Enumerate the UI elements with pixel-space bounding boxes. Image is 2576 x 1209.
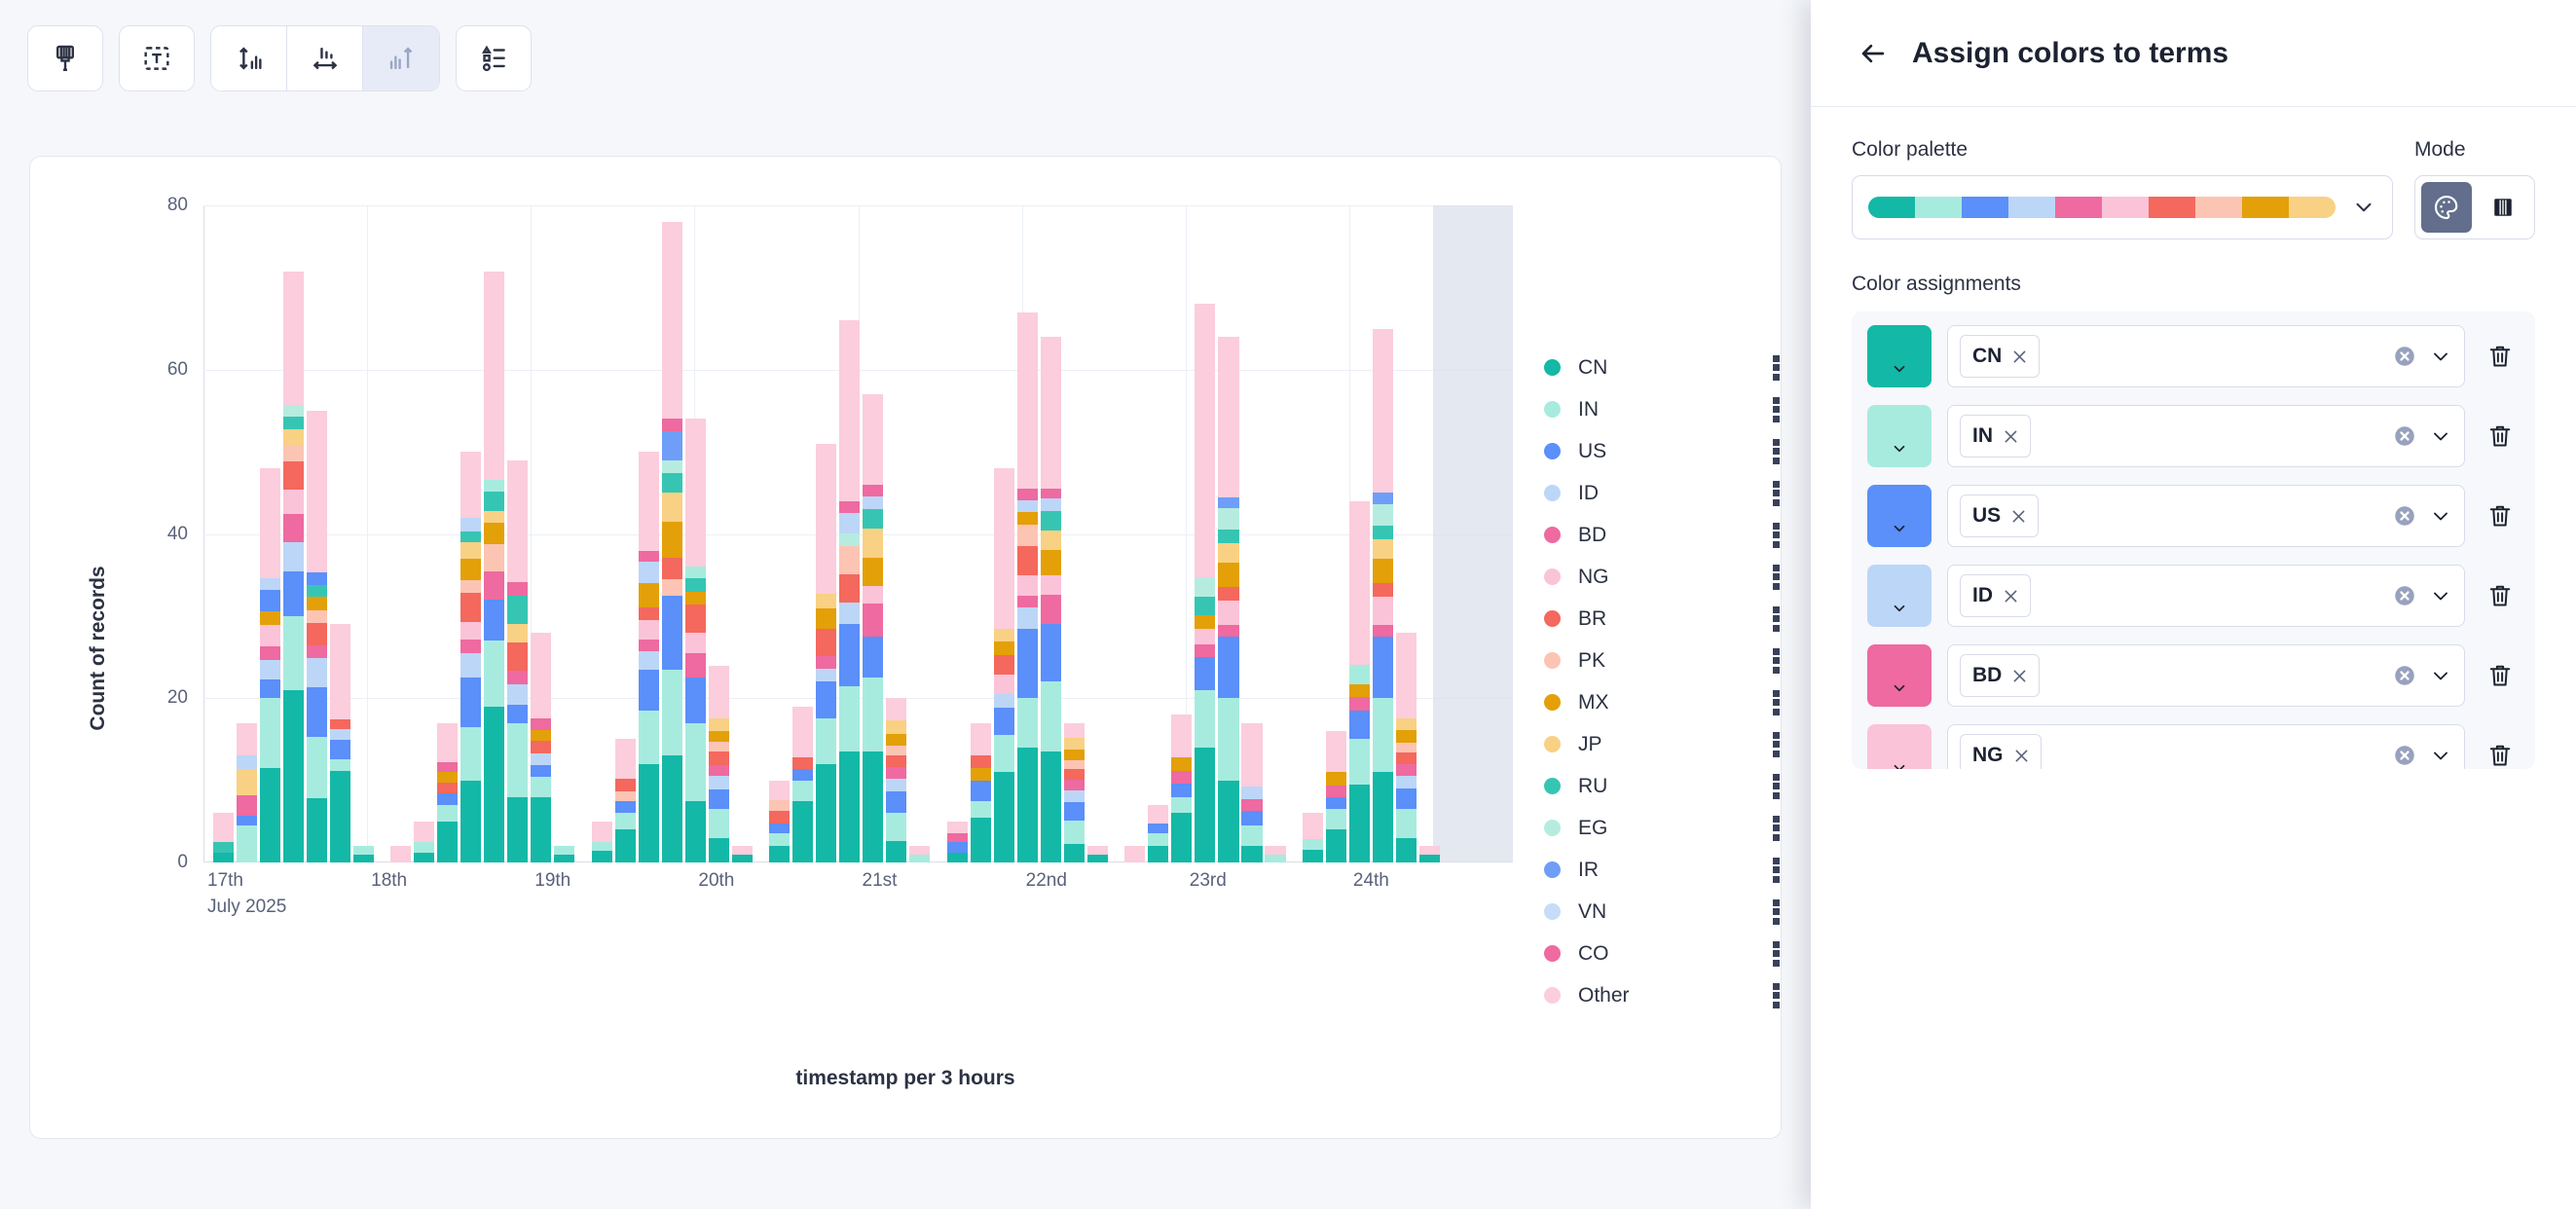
clear-circle-icon [2392, 743, 2417, 768]
legend-drag-handle[interactable] [1769, 439, 1783, 464]
bar-segment [909, 855, 930, 862]
legend-item-vn[interactable]: VN [1544, 891, 1783, 933]
legend-drag-handle[interactable] [1769, 816, 1783, 841]
bar-segment [307, 411, 327, 572]
legend-drag-handle[interactable] [1769, 565, 1783, 590]
clear-circle-icon [2392, 423, 2417, 449]
bar-segment [1396, 788, 1417, 809]
bar-segment [639, 670, 659, 711]
bar[interactable] [1396, 633, 1417, 862]
x-tick-label: 24th [1353, 870, 1389, 892]
bar-segment [1195, 615, 1215, 629]
legend-drag-handle[interactable] [1769, 941, 1783, 967]
clear-terms-icon[interactable] [2392, 344, 2417, 369]
bar-segment [507, 684, 528, 705]
bar-segment [1241, 723, 1262, 787]
bar[interactable] [1419, 846, 1440, 862]
bar[interactable] [1303, 813, 1323, 862]
bar[interactable] [709, 666, 729, 863]
y-axis-title: Count of records [87, 566, 110, 730]
color-swatch-button[interactable] [1867, 565, 1932, 627]
bar[interactable] [1124, 846, 1145, 862]
term-combobox[interactable]: IN [1947, 405, 2465, 467]
term-combobox[interactable]: NG [1947, 724, 2465, 769]
back-button[interactable] [1852, 32, 1895, 75]
bar-segment [1241, 846, 1262, 862]
remove-term-icon[interactable] [2012, 747, 2031, 765]
bar-segment [886, 720, 906, 734]
term-combobox[interactable]: BD [1947, 644, 2465, 707]
bar-segment [1349, 711, 1370, 740]
bar[interactable] [1326, 731, 1346, 862]
bar-segment [863, 485, 883, 496]
assignments-label: Color assignments [1852, 273, 2535, 296]
bar[interactable] [283, 272, 304, 863]
trash-icon [2485, 581, 2515, 610]
bar-segment [213, 842, 234, 853]
bar[interactable] [437, 723, 458, 862]
bar-segment [994, 655, 1014, 675]
bar-segment [353, 846, 374, 854]
arrow-left-icon [1857, 37, 1890, 70]
bar-segment [1218, 530, 1238, 543]
bar-segment [839, 574, 860, 604]
bar[interactable] [732, 846, 753, 862]
bar[interactable] [1017, 312, 1038, 862]
bar[interactable] [792, 707, 813, 862]
legend-drag-handle[interactable] [1769, 858, 1783, 883]
bar-segment [732, 855, 753, 862]
chevron-down-icon [2429, 504, 2452, 528]
bar-segment [816, 608, 836, 628]
bar-segment [1303, 839, 1323, 851]
bar-segment [1396, 718, 1417, 730]
bar[interactable] [460, 452, 481, 862]
bar-segment [283, 461, 304, 490]
bar[interactable] [685, 419, 706, 862]
clear-circle-icon [2392, 583, 2417, 608]
term-chip-label: NG [1972, 744, 2004, 767]
chart-card: Count of records timestamp per 3 hours 0… [29, 156, 1782, 1139]
remove-term-icon[interactable] [2010, 667, 2029, 685]
term-combobox[interactable]: CN [1947, 325, 2465, 387]
legend-options-button[interactable] [456, 25, 532, 92]
bar-segment [863, 637, 883, 678]
bar[interactable] [237, 723, 257, 862]
bar-segment [662, 419, 682, 431]
bar[interactable] [1241, 723, 1262, 862]
color-swatch-button[interactable] [1867, 405, 1932, 467]
bar-segment [1017, 525, 1038, 546]
color-swatch-button[interactable] [1867, 485, 1932, 547]
legend-item-ir[interactable]: IR [1544, 849, 1783, 891]
bar[interactable] [816, 444, 836, 862]
bar-segment [1349, 665, 1370, 684]
bar[interactable] [307, 411, 327, 862]
bar[interactable] [592, 822, 612, 862]
bar-segment [353, 855, 374, 862]
bar[interactable] [507, 460, 528, 862]
bar-segment [437, 723, 458, 763]
bar-segment [460, 653, 481, 678]
bar-segment [994, 772, 1014, 862]
vertical-axis-icon [233, 42, 266, 75]
trash-icon [2485, 342, 2515, 371]
bar[interactable] [554, 846, 574, 862]
bar-segment [769, 846, 790, 862]
bar-segment [994, 694, 1014, 708]
legend-item-id[interactable]: ID [1544, 472, 1783, 514]
bar[interactable] [909, 846, 930, 862]
bar-segment [769, 781, 790, 800]
bar-segment [484, 480, 504, 492]
legend-item-label: PK [1578, 649, 1769, 673]
bar-segment [1373, 597, 1393, 626]
bar-segment [390, 846, 411, 862]
bar-segment [484, 523, 504, 544]
bar-segment [307, 737, 327, 798]
legend-item-us[interactable]: US [1544, 430, 1783, 472]
bar-segment [460, 781, 481, 862]
chart-legend: CNINUSIDBDNGBRPKMXJPRUEGIRVNCOOther [1544, 347, 1783, 1016]
bar[interactable] [839, 320, 860, 862]
bar-segment [769, 811, 790, 824]
legend-item-pk[interactable]: PK [1544, 640, 1783, 681]
bar[interactable] [1265, 846, 1285, 862]
text-box-button[interactable] [119, 25, 195, 92]
bar-segment [484, 544, 504, 572]
bar-segment [1326, 772, 1346, 786]
term-chip: CN [1960, 335, 2040, 378]
legend-drag-handle[interactable] [1769, 899, 1783, 925]
bar-segment [507, 460, 528, 583]
stacked-axis-icon [385, 42, 418, 75]
bar-segment [460, 518, 481, 531]
clear-terms-icon[interactable] [2392, 423, 2417, 449]
chevron-down-icon [2429, 584, 2452, 607]
legend-drag-handle[interactable] [1769, 648, 1783, 674]
bar-segment [1195, 690, 1215, 748]
bar-segment [792, 769, 813, 781]
bar-segment [863, 509, 883, 529]
color-assignment-row: ID [1867, 565, 2520, 627]
bar-segment [685, 567, 706, 578]
bar[interactable] [1148, 805, 1168, 862]
legend-item-ng[interactable]: NG [1544, 556, 1783, 598]
term-chip: BD [1960, 654, 2040, 697]
bar-segment [507, 582, 528, 596]
bar[interactable] [994, 468, 1014, 862]
legend-drag-handle[interactable] [1769, 355, 1783, 381]
x-tick-label: 22nd [1026, 870, 1067, 892]
bar-segment [615, 791, 636, 801]
bar-segment [685, 592, 706, 605]
bar-segment [1064, 738, 1085, 750]
bar-segment [507, 671, 528, 684]
bar[interactable] [213, 813, 234, 862]
combo-chevron-icon[interactable] [2429, 504, 2452, 528]
legend-item-label: CO [1578, 942, 1769, 966]
bar[interactable] [353, 846, 374, 862]
bar-segment [283, 429, 304, 445]
bar-segment [1326, 797, 1346, 810]
legend-item-label: CN [1578, 356, 1769, 380]
combo-chevron-icon[interactable] [2429, 744, 2452, 767]
legend-drag-handle[interactable] [1769, 732, 1783, 757]
legend-item-other[interactable]: Other [1544, 974, 1783, 1016]
bar-segment [816, 764, 836, 862]
bar-segment [414, 853, 434, 862]
bar[interactable] [1064, 723, 1085, 862]
bar-segment [863, 558, 883, 586]
legend-drag-handle[interactable] [1769, 481, 1783, 506]
stacked-axis-button[interactable] [363, 26, 439, 91]
bar-segment [994, 675, 1014, 694]
legend-drag-handle[interactable] [1769, 606, 1783, 632]
chevron-down-icon [1891, 520, 1908, 537]
legend-drag-handle[interactable] [1769, 397, 1783, 422]
swatch-chevron-icon [1891, 679, 1908, 702]
bar[interactable] [615, 739, 636, 862]
bar[interactable] [947, 822, 968, 862]
remove-term-icon[interactable] [2010, 348, 2029, 366]
palette-swatch [2008, 197, 2055, 218]
legend-color-dot [1544, 736, 1561, 752]
clear-circle-icon [2392, 344, 2417, 369]
clear-terms-icon[interactable] [2392, 663, 2417, 688]
bar-segment [1087, 855, 1108, 862]
palette-swatch [2055, 197, 2102, 218]
bar-segment [994, 468, 1014, 629]
bar[interactable] [863, 394, 883, 862]
bar-segment [1017, 312, 1038, 489]
legend-drag-handle[interactable] [1769, 983, 1783, 1008]
bar-segment [816, 444, 836, 594]
bar-segment [1218, 337, 1238, 497]
bar-segment [1017, 489, 1038, 500]
bar-segment [1396, 776, 1417, 789]
categorical-mode-button[interactable] [2421, 182, 2472, 233]
term-chip-label: IN [1972, 424, 1993, 448]
palette-swatch [2195, 197, 2242, 218]
bar-segment [1017, 607, 1038, 628]
delete-assignment-button[interactable] [2481, 736, 2520, 769]
chevron-down-icon [2429, 345, 2452, 368]
bar[interactable] [330, 624, 350, 862]
bar-segment [283, 616, 304, 690]
legend-drag-handle[interactable] [1769, 523, 1783, 548]
bar-segment [484, 272, 504, 480]
bar-segment [839, 686, 860, 752]
legend-item-br[interactable]: BR [1544, 598, 1783, 640]
term-combobox[interactable]: US [1947, 485, 2465, 547]
bar[interactable] [414, 822, 434, 862]
clear-terms-icon[interactable] [2392, 583, 2417, 608]
delete-assignment-button[interactable] [2481, 417, 2520, 456]
bar-segment [531, 753, 551, 765]
bar-segment [886, 698, 906, 720]
bar-segment [816, 669, 836, 682]
legend-item-in[interactable]: IN [1544, 388, 1783, 430]
legend-color-dot [1544, 610, 1561, 627]
bar-segment [283, 405, 304, 417]
legend-drag-handle[interactable] [1769, 774, 1783, 799]
legend-item-eg[interactable]: EG [1544, 807, 1783, 849]
bar[interactable] [662, 222, 682, 862]
bar-segment [863, 529, 883, 558]
bar-segment [1148, 833, 1168, 846]
bar[interactable] [769, 781, 790, 862]
bar-segment [709, 666, 729, 719]
delete-assignment-button[interactable] [2481, 337, 2520, 376]
legend-color-dot [1544, 987, 1561, 1004]
bar-segment [283, 445, 304, 461]
bar[interactable] [1373, 329, 1393, 862]
bar[interactable] [886, 698, 906, 862]
legend-item-label: IR [1578, 859, 1769, 882]
legend-color-dot [1544, 652, 1561, 669]
bar-segment [615, 779, 636, 791]
bar-segment [816, 594, 836, 608]
color-swatch-button[interactable] [1867, 644, 1932, 707]
vertical-axis-button[interactable] [211, 26, 287, 91]
legend-item-jp[interactable]: JP [1544, 723, 1783, 765]
bar-segment [1373, 625, 1393, 637]
chevron-down-icon [1891, 360, 1908, 378]
legend-item-label: MX [1578, 691, 1769, 714]
legend-color-dot [1544, 527, 1561, 543]
bar[interactable] [531, 633, 551, 862]
bar-segment [1041, 550, 1061, 574]
bar-segment [237, 769, 257, 795]
legend-color-dot [1544, 443, 1561, 459]
combo-chevron-icon[interactable] [2429, 424, 2452, 448]
palette-swatch [1915, 197, 1962, 218]
color-assignments-list[interactable]: CNINUSIDBDNGBRPKMXJPRUEG [1852, 311, 2535, 769]
bar-segment [994, 708, 1014, 736]
delete-assignment-button[interactable] [2481, 656, 2520, 695]
combo-chevron-icon[interactable] [2429, 664, 2452, 687]
bar[interactable] [1218, 337, 1238, 862]
bar-segment [1419, 855, 1440, 862]
bar-segment [662, 670, 682, 756]
legend-drag-handle[interactable] [1769, 690, 1783, 715]
bar-segment [1241, 799, 1262, 811]
bar-segment [709, 731, 729, 742]
bar[interactable] [390, 846, 411, 862]
bar-segment [709, 742, 729, 751]
bar-segment [1171, 771, 1192, 785]
combo-chevron-icon[interactable] [2429, 345, 2452, 368]
palette-select[interactable] [1852, 175, 2393, 239]
bar-segment [863, 586, 883, 604]
bar-segment [863, 604, 883, 637]
bar-segment [260, 468, 280, 578]
bar-segment [1349, 785, 1370, 862]
legend-item-label: VN [1578, 900, 1769, 924]
bar-segment [1373, 583, 1393, 597]
clear-terms-icon[interactable] [2392, 503, 2417, 529]
bar[interactable] [639, 452, 659, 862]
bar-segment [816, 656, 836, 669]
delete-assignment-button[interactable] [2481, 496, 2520, 535]
bar-segment [1218, 563, 1238, 587]
bar-segment [484, 511, 504, 523]
bar-segment [484, 492, 504, 511]
chevron-down-icon [1891, 679, 1908, 697]
legend-item-label: BR [1578, 607, 1769, 631]
bar-segment [237, 825, 257, 862]
legend-item-label: JP [1578, 733, 1769, 756]
bar-segment [531, 797, 551, 863]
bar[interactable] [1041, 337, 1061, 862]
bar-segment [1148, 824, 1168, 834]
bar[interactable] [1349, 501, 1370, 862]
bar-segment [460, 531, 481, 542]
bar-segment [839, 546, 860, 574]
gradient-mode-button[interactable] [2478, 182, 2528, 233]
bar-segment [1218, 543, 1238, 563]
horizontal-axis-button[interactable] [287, 26, 363, 91]
bar-segment [554, 846, 574, 854]
bar-segment [1195, 629, 1215, 645]
color-swatch-button[interactable] [1867, 325, 1932, 387]
bar[interactable] [484, 272, 504, 863]
bar[interactable] [1171, 714, 1192, 862]
term-chip: IN [1960, 415, 2031, 458]
palette-swatch [1868, 197, 1915, 218]
bar-segment [1396, 838, 1417, 862]
combo-chevron-icon[interactable] [2429, 584, 2452, 607]
bar-segment [662, 558, 682, 579]
axis-mode-group [210, 25, 440, 92]
bar-segment [1148, 805, 1168, 824]
bar[interactable] [971, 723, 991, 862]
legend-item-bd[interactable]: BD [1544, 514, 1783, 556]
term-combobox[interactable]: ID [1947, 565, 2465, 627]
legend-item-ru[interactable]: RU [1544, 765, 1783, 807]
remove-term-icon[interactable] [2002, 427, 2020, 446]
bar-segment [1349, 739, 1370, 784]
style-brush-button[interactable] [27, 25, 103, 92]
bar-segment [639, 551, 659, 562]
remove-term-icon[interactable] [2009, 507, 2028, 526]
swatch-chevron-icon [1891, 360, 1908, 383]
bar-segment [839, 751, 860, 862]
panel-body: Color palette Mode [1811, 107, 2576, 769]
bar-segment [1396, 809, 1417, 838]
clear-terms-icon[interactable] [2392, 743, 2417, 768]
legend-item-mx[interactable]: MX [1544, 681, 1783, 723]
bar-segment [531, 741, 551, 753]
legend-color-dot [1544, 401, 1561, 418]
bar[interactable] [260, 468, 280, 862]
remove-term-icon[interactable] [2002, 587, 2020, 605]
palette-field: Color palette [1852, 138, 2393, 239]
bar[interactable] [1087, 846, 1108, 862]
bar-segment [732, 846, 753, 854]
bar-segment [839, 320, 860, 501]
bar-segment [947, 833, 968, 841]
color-swatch-button[interactable] [1867, 724, 1932, 769]
bar-segment [816, 681, 836, 718]
legend-item-co[interactable]: CO [1544, 933, 1783, 974]
bar-segment [662, 493, 682, 522]
bar[interactable] [1195, 304, 1215, 862]
delete-assignment-button[interactable] [2481, 576, 2520, 615]
legend-item-cn[interactable]: CN [1544, 347, 1783, 388]
bar-segment [792, 707, 813, 757]
